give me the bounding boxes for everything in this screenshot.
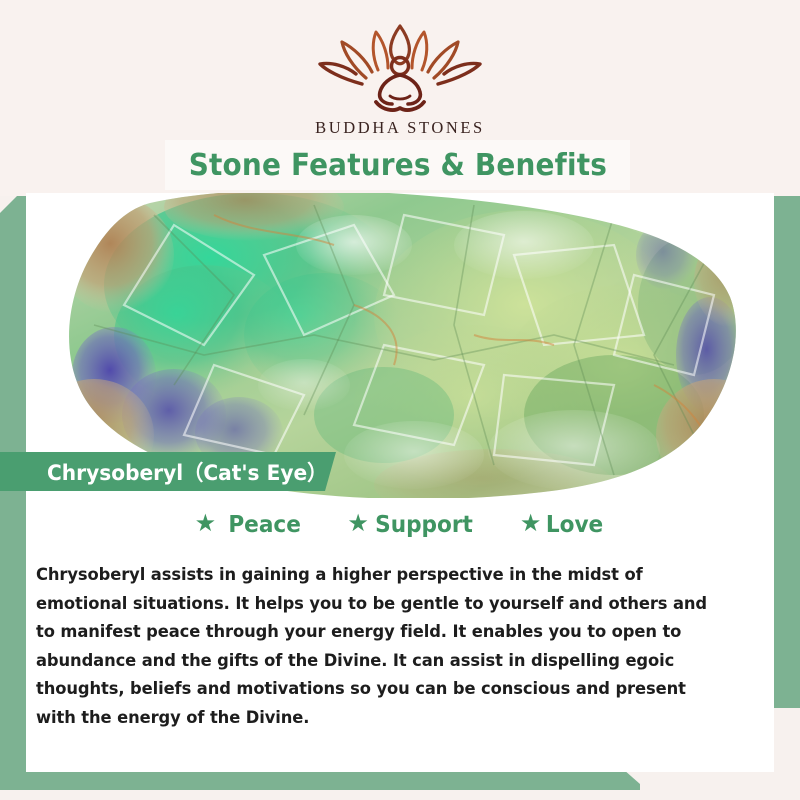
infographic-page: BUDDHA STONES Stone Features & Benefits (0, 0, 800, 800)
keyword-item: ★ Support (347, 512, 476, 538)
keyword-item: ★ Love (520, 512, 606, 538)
star-icon: ★ (195, 512, 217, 536)
title-banner: Stone Features & Benefits (165, 140, 630, 190)
brand-logo: BUDDHA STONES (0, 22, 800, 138)
keyword-item: ★ Peace (195, 512, 304, 538)
keyword-label: Peace (228, 512, 301, 538)
benefit-keywords: ★ Peace ★ Support ★ Love (26, 512, 774, 538)
brand-name: BUDDHA STONES (0, 118, 800, 138)
page-title: Stone Features & Benefits (188, 148, 606, 183)
lotus-meditation-figure-icon (310, 22, 490, 114)
stone-name-label: Chrysoberyl（Cat's Eye） (47, 457, 327, 487)
description-paragraph: Chrysoberyl assists in gaining a higher … (36, 561, 726, 732)
keyword-label: Love (546, 512, 603, 538)
star-icon: ★ (520, 512, 542, 536)
star-icon: ★ (347, 512, 369, 536)
keyword-label: Support (375, 512, 473, 538)
stone-name-badge: Chrysoberyl（Cat's Eye） (0, 452, 336, 491)
